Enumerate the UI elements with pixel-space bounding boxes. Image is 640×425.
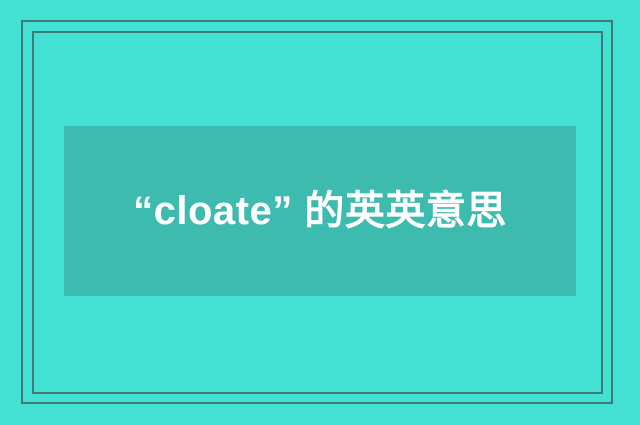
- page-title: “cloate” 的英英意思: [133, 182, 507, 240]
- title-panel: “cloate” 的英英意思: [64, 126, 576, 296]
- poster-canvas: “cloate” 的英英意思: [0, 0, 640, 425]
